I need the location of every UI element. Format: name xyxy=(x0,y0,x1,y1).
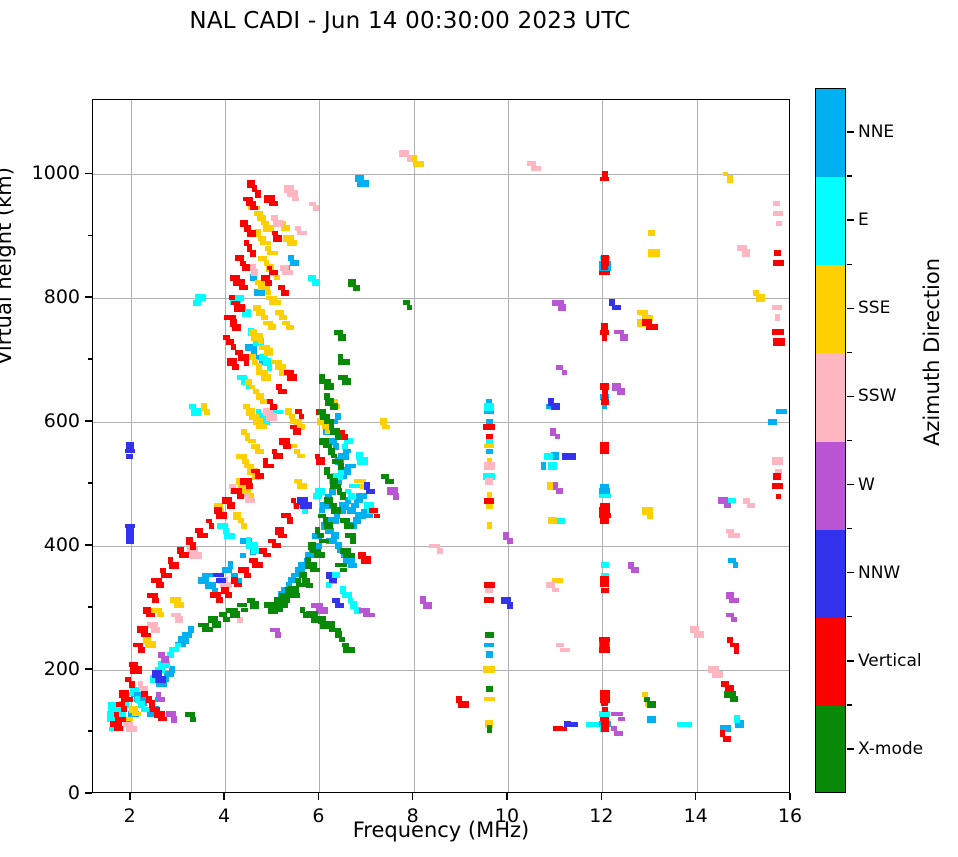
data-point xyxy=(611,712,623,716)
data-point xyxy=(190,552,202,559)
data-point xyxy=(485,632,494,638)
data-point xyxy=(772,483,783,489)
data-point xyxy=(290,260,299,266)
data-point xyxy=(614,731,623,736)
data-point xyxy=(258,236,266,241)
data-point xyxy=(357,180,369,187)
colorbar-segment-ssw[interactable] xyxy=(816,353,845,442)
data-point xyxy=(338,334,346,341)
data-point xyxy=(269,201,278,206)
data-point xyxy=(772,305,782,310)
data-point xyxy=(407,305,412,310)
data-point xyxy=(146,613,155,617)
data-point xyxy=(245,498,255,503)
data-point xyxy=(169,647,179,652)
data-point xyxy=(174,602,184,608)
data-point xyxy=(342,444,348,449)
data-point xyxy=(191,408,201,416)
data-point xyxy=(248,439,256,443)
data-point xyxy=(244,359,249,366)
data-point xyxy=(335,603,344,608)
data-point xyxy=(423,602,432,609)
data-point xyxy=(343,449,351,453)
data-point xyxy=(114,726,123,731)
data-point xyxy=(773,260,784,266)
data-point xyxy=(742,249,750,257)
data-point xyxy=(617,388,625,395)
data-point xyxy=(230,611,240,618)
colorbar-tick xyxy=(847,660,854,661)
data-point xyxy=(342,378,351,385)
data-point xyxy=(190,717,196,722)
data-point xyxy=(486,434,493,439)
data-point xyxy=(232,324,241,331)
data-point xyxy=(348,563,357,568)
colorbar-boundary-tick xyxy=(847,440,852,441)
data-point xyxy=(647,701,656,708)
data-point xyxy=(726,529,734,533)
colorbar-segment-nnw[interactable] xyxy=(816,530,845,619)
data-point xyxy=(600,583,609,587)
colorbar-label-vertical: Vertical xyxy=(858,651,922,671)
y-tick-minor xyxy=(88,358,92,360)
data-point xyxy=(592,722,599,727)
data-point xyxy=(486,686,493,692)
data-point xyxy=(287,517,293,524)
data-point xyxy=(723,736,731,742)
data-point xyxy=(294,503,299,509)
data-point xyxy=(216,578,226,583)
data-point xyxy=(239,285,248,290)
data-point xyxy=(155,676,166,683)
x-tick-major xyxy=(223,793,225,800)
data-point xyxy=(265,280,272,286)
data-point xyxy=(601,265,608,270)
data-point xyxy=(129,681,135,688)
data-point xyxy=(188,626,194,633)
data-point xyxy=(197,533,208,538)
ionogram-figure: NAL CADI - Jun 14 00:30:00 2023 UTC 0200… xyxy=(0,0,958,857)
data-point xyxy=(747,503,755,508)
data-point xyxy=(319,539,329,543)
data-point xyxy=(331,532,339,539)
y-tick-major xyxy=(85,296,92,298)
data-point xyxy=(484,597,494,603)
data-point xyxy=(313,205,319,211)
data-point xyxy=(255,449,264,454)
y-tick-label: 600 xyxy=(44,410,80,432)
data-point xyxy=(161,656,169,663)
data-point xyxy=(295,226,301,231)
data-point xyxy=(487,725,492,733)
data-point xyxy=(281,290,289,296)
data-point xyxy=(216,597,223,603)
data-point xyxy=(366,489,375,494)
data-point xyxy=(729,598,739,603)
data-point xyxy=(712,671,723,678)
data-point xyxy=(141,633,151,637)
data-point xyxy=(234,583,242,587)
data-point xyxy=(278,534,287,538)
data-point xyxy=(286,325,294,330)
data-point xyxy=(558,304,566,311)
data-point xyxy=(268,324,276,330)
colorbar-tick xyxy=(847,484,854,485)
data-point xyxy=(775,314,780,321)
data-point xyxy=(242,264,250,271)
data-point xyxy=(126,717,133,721)
x-tick-major xyxy=(412,793,414,800)
data-point xyxy=(152,598,159,603)
data-point xyxy=(612,305,621,310)
y-tick-minor xyxy=(88,482,92,484)
data-point xyxy=(351,503,359,508)
data-point xyxy=(121,706,127,712)
data-point xyxy=(541,462,546,470)
colorbar-segment-sse[interactable] xyxy=(816,265,845,354)
data-point xyxy=(734,646,739,654)
data-point xyxy=(773,211,783,216)
y-tick-label: 0 xyxy=(68,782,80,804)
data-point xyxy=(190,542,196,550)
data-point xyxy=(407,155,412,162)
data-points xyxy=(93,100,789,792)
y-tick-major xyxy=(85,544,92,546)
data-point xyxy=(179,552,189,558)
data-point xyxy=(267,251,278,255)
data-point xyxy=(357,457,368,465)
data-point xyxy=(345,464,356,468)
data-point xyxy=(552,588,559,592)
data-point xyxy=(264,348,273,356)
data-point xyxy=(724,503,731,508)
data-point xyxy=(393,493,399,500)
data-point xyxy=(620,334,628,341)
data-point xyxy=(157,612,164,617)
data-point xyxy=(279,315,287,320)
y-axis-label: Virtual height (km) xyxy=(0,86,16,446)
colorbar-tick xyxy=(847,308,854,309)
data-point xyxy=(161,573,172,578)
y-tick-major xyxy=(85,173,92,175)
data-point xyxy=(599,271,610,275)
data-point xyxy=(548,517,557,524)
data-point xyxy=(602,334,607,341)
data-point xyxy=(483,666,495,673)
x-tick-major xyxy=(695,793,697,800)
data-point xyxy=(600,517,609,524)
data-point xyxy=(324,522,333,529)
data-point xyxy=(343,553,355,558)
data-point xyxy=(646,324,658,330)
data-point xyxy=(225,592,232,598)
data-point xyxy=(261,315,268,320)
data-point xyxy=(343,647,355,653)
data-point xyxy=(250,206,258,210)
data-point xyxy=(158,697,165,702)
y-tick-minor xyxy=(88,606,92,608)
data-point xyxy=(312,279,319,286)
data-point xyxy=(363,613,375,617)
data-point xyxy=(244,573,251,578)
data-point xyxy=(484,462,495,470)
data-point xyxy=(773,473,781,480)
data-point xyxy=(487,522,492,529)
data-point xyxy=(241,608,248,612)
data-point xyxy=(348,493,355,500)
colorbar-tick xyxy=(847,219,854,220)
colorbar[interactable] xyxy=(815,88,846,793)
data-point xyxy=(250,385,255,389)
data-point xyxy=(273,453,283,459)
data-point xyxy=(130,666,142,674)
data-point xyxy=(265,246,271,251)
data-point xyxy=(204,409,210,415)
data-point xyxy=(556,643,564,647)
data-point xyxy=(244,494,249,498)
data-point xyxy=(369,508,378,513)
colorbar-boundary-tick xyxy=(847,175,852,176)
data-point xyxy=(216,512,227,519)
y-tick-minor xyxy=(88,235,92,237)
x-tick-major xyxy=(601,793,603,800)
data-point xyxy=(544,453,553,460)
data-point xyxy=(324,383,334,390)
data-point xyxy=(263,553,271,557)
data-point xyxy=(169,562,179,569)
data-point xyxy=(255,473,264,479)
data-point xyxy=(356,493,367,499)
data-point xyxy=(772,457,783,465)
data-point xyxy=(126,454,133,459)
colorbar-boundary-tick xyxy=(847,704,852,705)
data-point xyxy=(202,573,213,577)
data-point xyxy=(273,220,283,227)
data-point xyxy=(756,294,765,302)
colorbar-tick xyxy=(847,131,854,132)
data-point xyxy=(297,483,307,489)
data-point xyxy=(483,424,495,430)
data-point xyxy=(776,494,781,499)
data-point xyxy=(223,617,230,622)
data-point xyxy=(224,533,235,539)
data-point xyxy=(772,329,784,335)
colorbar-segment-x-mode[interactable] xyxy=(816,706,845,793)
y-tick-label: 400 xyxy=(44,534,80,556)
data-point xyxy=(339,637,345,642)
data-point xyxy=(647,512,653,519)
data-point xyxy=(335,433,342,440)
data-point xyxy=(484,697,495,701)
data-point xyxy=(261,374,271,381)
data-point xyxy=(242,459,249,464)
data-point xyxy=(733,562,738,568)
colorbar-segment-w[interactable] xyxy=(816,442,845,531)
data-point xyxy=(437,548,443,554)
data-point xyxy=(776,221,782,226)
data-point xyxy=(287,240,297,246)
data-point xyxy=(694,631,704,638)
data-point xyxy=(727,175,733,183)
data-point xyxy=(343,467,351,475)
data-point xyxy=(125,449,135,453)
data-point xyxy=(648,230,655,236)
data-point xyxy=(776,409,787,414)
data-point xyxy=(374,514,380,518)
data-point xyxy=(209,523,214,529)
data-point xyxy=(413,161,424,167)
data-point xyxy=(507,538,513,544)
data-point xyxy=(316,457,325,465)
data-point xyxy=(350,537,356,544)
data-point xyxy=(265,290,271,295)
data-point xyxy=(486,449,493,454)
data-point xyxy=(213,573,224,577)
data-point xyxy=(234,304,245,312)
data-point xyxy=(283,444,291,449)
data-point xyxy=(126,537,134,544)
data-point xyxy=(556,488,563,494)
data-point xyxy=(774,250,781,256)
data-point xyxy=(329,578,337,583)
colorbar-tick xyxy=(847,572,854,573)
data-point xyxy=(601,588,609,593)
data-point xyxy=(266,296,277,300)
plot-area xyxy=(92,99,790,793)
data-point xyxy=(601,562,609,568)
data-point xyxy=(602,707,608,712)
data-point xyxy=(485,478,493,485)
data-point xyxy=(151,627,160,633)
data-point xyxy=(773,201,780,206)
data-point xyxy=(618,717,625,721)
data-point xyxy=(599,647,610,653)
data-point xyxy=(306,583,313,588)
data-point xyxy=(601,399,609,405)
data-point xyxy=(278,389,287,394)
data-point xyxy=(340,492,346,500)
data-point xyxy=(132,712,141,716)
data-point xyxy=(354,499,363,503)
data-point xyxy=(728,533,740,538)
data-point xyxy=(268,606,278,614)
data-point xyxy=(730,696,738,702)
colorbar-segment-vertical[interactable] xyxy=(816,618,845,707)
colorbar-segment-e[interactable] xyxy=(816,177,845,266)
data-point xyxy=(768,419,777,425)
data-point xyxy=(292,197,299,201)
data-point xyxy=(602,404,607,409)
data-point xyxy=(126,726,137,732)
data-point xyxy=(202,627,213,632)
data-point xyxy=(726,613,734,617)
data-point xyxy=(297,454,305,458)
data-point xyxy=(484,403,494,411)
data-point xyxy=(282,270,293,275)
data-point xyxy=(269,270,278,275)
data-point xyxy=(237,603,247,607)
data-point xyxy=(486,651,493,658)
data-point xyxy=(273,235,282,242)
colorbar-tick xyxy=(847,748,854,749)
y-tick-major xyxy=(85,792,92,794)
data-point xyxy=(335,563,347,567)
y-tick-label: 200 xyxy=(44,658,80,680)
data-point xyxy=(558,727,567,731)
data-point xyxy=(601,725,609,732)
data-point xyxy=(329,488,336,495)
y-tick-minor xyxy=(88,730,92,732)
data-point xyxy=(252,562,263,568)
data-point xyxy=(551,403,560,410)
colorbar-label-ssw: SSW xyxy=(858,386,896,406)
data-point xyxy=(297,231,307,235)
data-point xyxy=(198,623,209,627)
data-point xyxy=(227,502,235,509)
data-point xyxy=(484,498,494,504)
y-tick-major xyxy=(85,668,92,670)
colorbar-segment-nne[interactable] xyxy=(816,89,845,178)
data-point xyxy=(484,444,494,448)
x-tick-major xyxy=(129,793,131,800)
colorbar-boundary-tick xyxy=(847,352,852,353)
data-point xyxy=(246,483,253,489)
data-point xyxy=(338,359,350,365)
data-point xyxy=(340,568,347,572)
y-tick-label: 800 xyxy=(44,286,80,308)
data-point xyxy=(353,285,360,291)
data-point xyxy=(195,294,206,301)
colorbar-label-x-mode: X-mode xyxy=(858,739,923,759)
data-point xyxy=(315,488,325,495)
colorbar-label-e: E xyxy=(858,210,869,230)
data-point xyxy=(268,539,276,543)
x-axis-label: Frequency (MHz) xyxy=(92,818,790,842)
data-point xyxy=(731,617,737,622)
data-point xyxy=(263,464,274,468)
data-point xyxy=(241,523,247,529)
data-point xyxy=(294,449,300,454)
data-point xyxy=(507,602,513,609)
data-point xyxy=(344,523,354,529)
data-point xyxy=(338,463,344,470)
x-tick-major xyxy=(318,793,320,800)
colorbar-label-nne: NNE xyxy=(858,122,894,142)
data-point xyxy=(385,479,394,484)
data-point xyxy=(567,453,576,460)
data-point xyxy=(555,434,560,439)
data-point xyxy=(171,716,177,723)
data-point xyxy=(773,338,785,346)
colorbar-label-sse: SSE xyxy=(858,298,890,318)
data-point xyxy=(240,553,246,558)
data-point xyxy=(228,561,233,569)
data-point xyxy=(648,249,660,257)
data-point xyxy=(275,632,281,638)
data-point xyxy=(361,556,371,564)
data-point xyxy=(141,707,149,712)
y-tick-label: 1000 xyxy=(32,162,80,184)
data-point xyxy=(250,250,256,257)
data-point xyxy=(331,507,341,514)
data-point xyxy=(331,454,337,458)
data-point xyxy=(560,648,570,652)
data-point xyxy=(247,230,256,237)
data-point xyxy=(158,717,167,721)
data-point xyxy=(314,552,325,558)
data-point xyxy=(256,424,267,429)
data-point xyxy=(317,533,324,538)
